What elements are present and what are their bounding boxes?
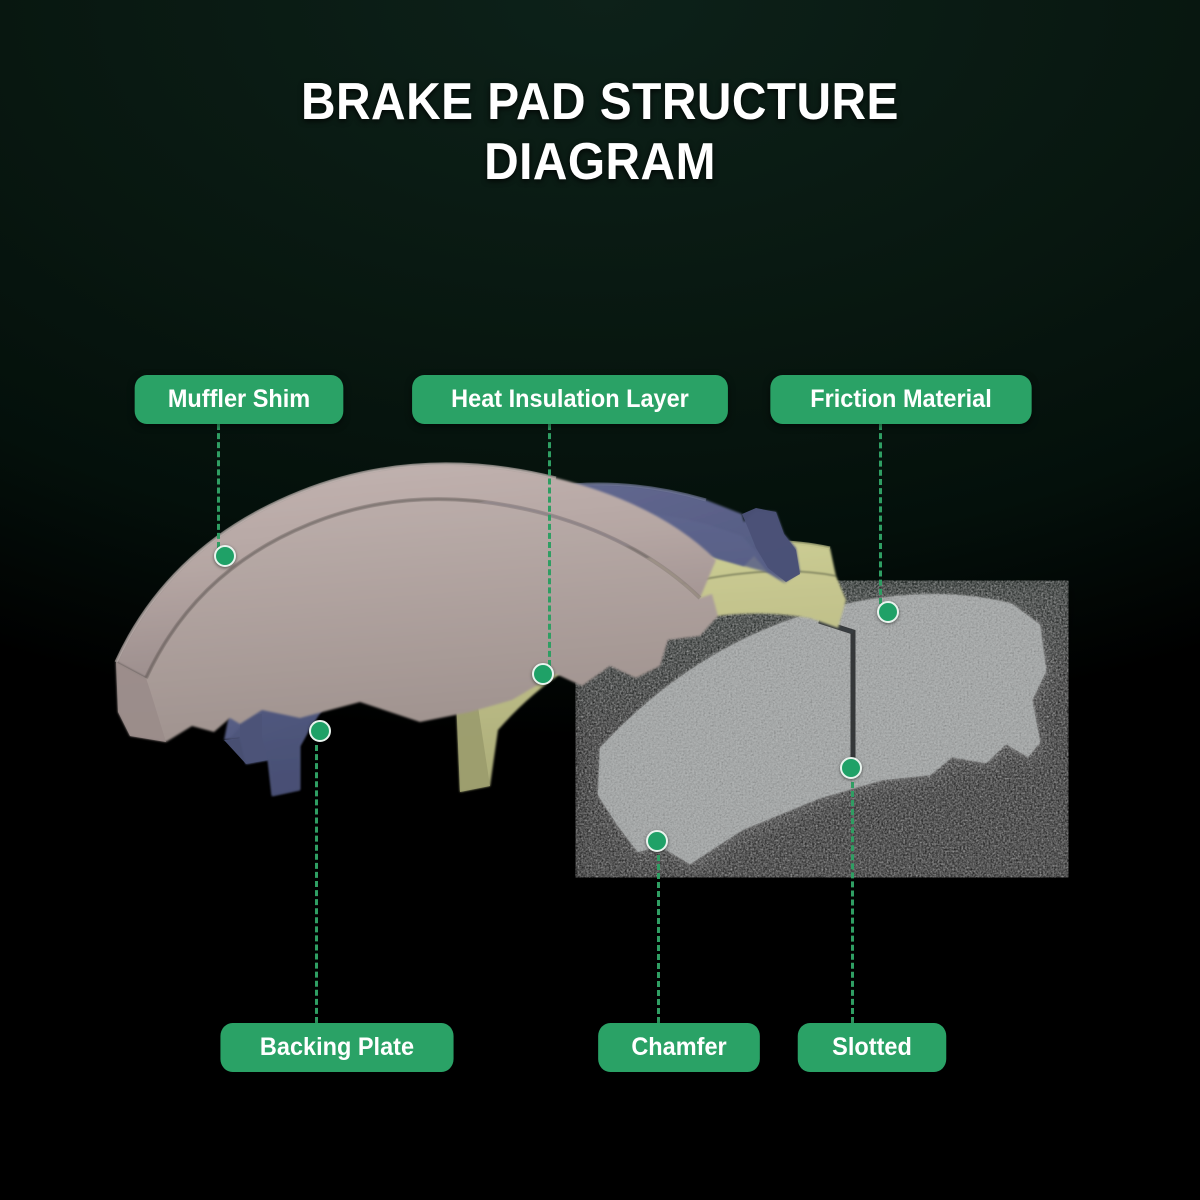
callout-badge-friction-material[interactable]: Friction Material [770,375,1031,424]
callout-badge-chamfer[interactable]: Chamfer [598,1023,760,1072]
muffler-shim-layer [116,464,718,742]
lead-line-backing-plate [315,745,318,1023]
marker-dot-heat-insulation-layer[interactable] [532,663,554,685]
callout-badge-heat-insulation-layer[interactable]: Heat Insulation Layer [412,375,728,424]
marker-dot-chamfer[interactable] [646,830,668,852]
callout-badge-slotted[interactable]: Slotted [798,1023,947,1072]
callout-badge-backing-plate[interactable]: Backing Plate [220,1023,453,1072]
lead-line-slotted [851,782,854,1023]
diagram-canvas: BRAKE PAD STRUCTURE DIAGRAM [0,0,1200,1200]
lead-line-heat-insulation-layer [548,424,551,666]
marker-dot-backing-plate[interactable] [309,720,331,742]
lead-line-chamfer [657,855,660,1023]
brake-pad-exploded-view [0,0,1200,1200]
lead-line-friction-material [879,424,882,604]
marker-dot-muffler-shim[interactable] [214,545,236,567]
callout-badge-muffler-shim[interactable]: Muffler Shim [135,375,344,424]
marker-dot-friction-material[interactable] [877,601,899,623]
lead-line-muffler-shim [217,424,220,548]
marker-dot-slotted[interactable] [840,757,862,779]
